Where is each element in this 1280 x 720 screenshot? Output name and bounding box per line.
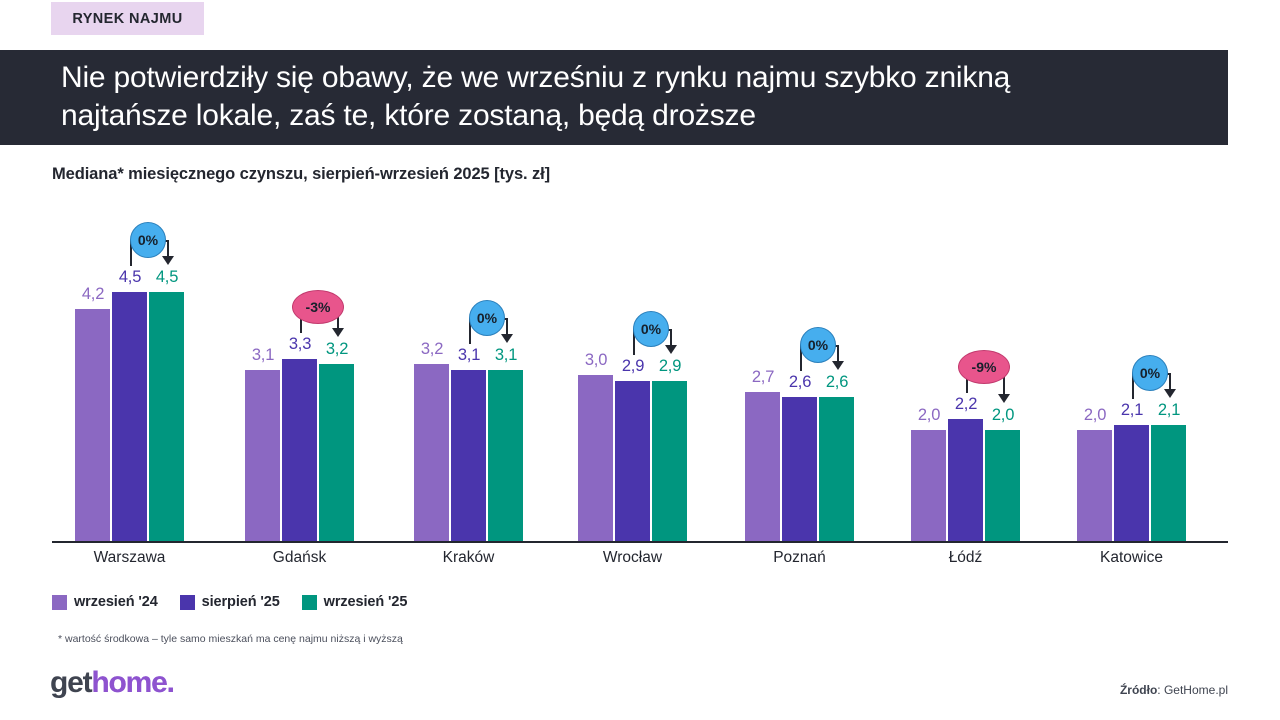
change-badge[interactable]: 0% xyxy=(1132,355,1168,391)
bar-group: 3,13,33,2-3% xyxy=(245,200,354,541)
bar[interactable] xyxy=(112,292,147,541)
legend-swatch xyxy=(180,595,195,610)
bar[interactable] xyxy=(948,419,983,541)
change-badge[interactable]: 0% xyxy=(130,222,166,258)
legend-label: wrzesień '25 xyxy=(324,594,408,610)
bar-value-label: 2,6 xyxy=(814,373,860,392)
connector-line xyxy=(837,345,839,361)
bar-value-label: 3,2 xyxy=(314,340,360,359)
bar[interactable] xyxy=(615,381,650,541)
bar[interactable] xyxy=(1077,430,1112,541)
change-badge[interactable]: 0% xyxy=(633,311,669,347)
legend-label: wrzesień '24 xyxy=(74,594,158,610)
bar[interactable] xyxy=(414,364,449,541)
bar[interactable] xyxy=(782,397,817,541)
gethome-logo: gethome. xyxy=(50,666,174,700)
bar[interactable] xyxy=(819,397,854,541)
logo-home: home. xyxy=(91,666,173,699)
legend-item[interactable]: sierpień '25 xyxy=(180,594,280,610)
bar-group: 2,72,62,60% xyxy=(745,200,854,541)
bar-value-label: 2,0 xyxy=(980,406,1026,425)
change-badge[interactable]: 0% xyxy=(469,300,505,336)
bar-group: 2,02,22,0-9% xyxy=(911,200,1020,541)
category-label: Łódź xyxy=(876,549,1056,567)
bar-value-label: 2,1 xyxy=(1146,401,1192,420)
bar-group: 4,24,54,50% xyxy=(75,200,184,541)
bar[interactable] xyxy=(282,359,317,541)
bar[interactable] xyxy=(488,370,523,541)
legend-swatch xyxy=(52,595,67,610)
bar-value-label: 2,9 xyxy=(647,357,693,376)
arrow-head-icon xyxy=(1164,389,1176,398)
category-label: Kraków xyxy=(379,549,559,567)
category-label: Poznań xyxy=(710,549,890,567)
change-badge[interactable]: 0% xyxy=(800,327,836,363)
category-label: Gdańsk xyxy=(210,549,390,567)
legend-swatch xyxy=(302,595,317,610)
arrow-head-icon xyxy=(501,334,513,343)
connector-line xyxy=(670,329,672,345)
source-note: Źródło: GetHome.pl xyxy=(1120,683,1228,697)
bar[interactable] xyxy=(745,392,780,541)
category-label: Katowice xyxy=(1042,549,1222,567)
connector-line xyxy=(1169,373,1171,389)
bar-value-label: 4,5 xyxy=(144,268,190,287)
bar-value-label: 4,2 xyxy=(70,285,116,304)
bar[interactable] xyxy=(319,364,354,541)
arrow-head-icon xyxy=(665,345,677,354)
bar[interactable] xyxy=(75,309,110,541)
category-label: Wrocław xyxy=(543,549,723,567)
bar[interactable] xyxy=(1151,425,1186,541)
arrow-head-icon xyxy=(332,328,344,337)
bar-value-label: 3,1 xyxy=(483,346,529,365)
legend-item[interactable]: wrzesień '25 xyxy=(302,594,408,610)
legend-label: sierpień '25 xyxy=(202,594,280,610)
footnote: * wartość środkowa – tyle samo mieszkań … xyxy=(58,633,403,645)
change-badge[interactable]: -3% xyxy=(292,290,344,324)
bar[interactable] xyxy=(985,430,1020,541)
x-axis-line xyxy=(52,541,1228,543)
bar[interactable] xyxy=(911,430,946,541)
bar-group: 3,02,92,90% xyxy=(578,200,687,541)
legend-item[interactable]: wrzesień '24 xyxy=(52,594,158,610)
arrow-head-icon xyxy=(998,394,1010,403)
arrow-head-icon xyxy=(832,361,844,370)
connector-line xyxy=(506,318,508,334)
bar[interactable] xyxy=(451,370,486,541)
chart-legend: wrzesień '24sierpień '25wrzesień '25 xyxy=(52,594,407,610)
bar-chart: 4,24,54,50%3,13,33,2-3%3,23,13,10%3,02,9… xyxy=(0,0,1280,720)
bar-group: 2,02,12,10% xyxy=(1077,200,1186,541)
category-label: Warszawa xyxy=(40,549,220,567)
bar[interactable] xyxy=(578,375,613,541)
logo-get: get xyxy=(50,666,91,699)
bar[interactable] xyxy=(1114,425,1149,541)
connector-line xyxy=(167,240,169,256)
bar-group: 3,23,13,10% xyxy=(414,200,523,541)
source-label: Źródło xyxy=(1120,683,1157,697)
bar[interactable] xyxy=(149,292,184,541)
bar[interactable] xyxy=(652,381,687,541)
source-value: : GetHome.pl xyxy=(1157,683,1228,697)
bar[interactable] xyxy=(245,370,280,541)
arrow-head-icon xyxy=(162,256,174,265)
